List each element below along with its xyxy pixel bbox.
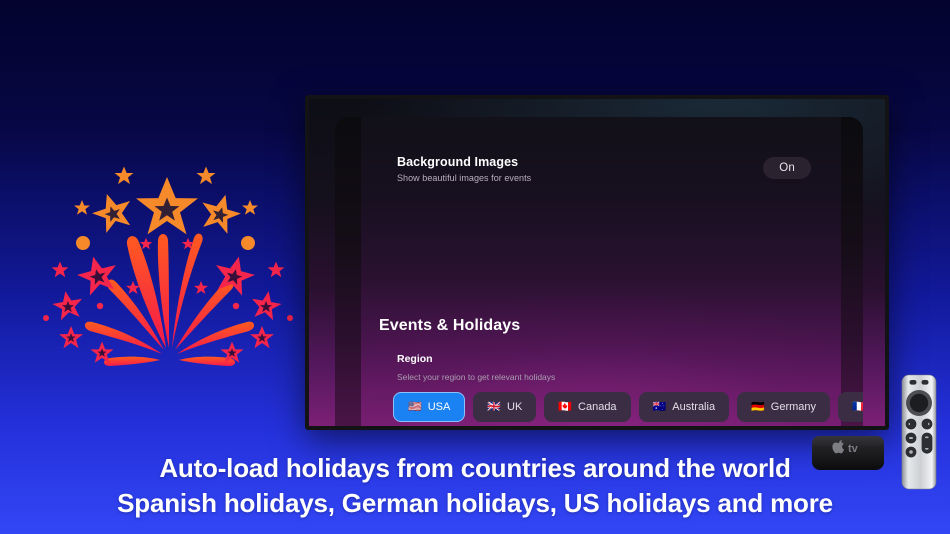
region-chip-label: Australia [672,401,715,413]
region-chip-label: Canada [578,401,617,413]
tv-display: Background Images Show beautiful images … [305,95,889,430]
caption-block: Auto-load holidays from countries around… [0,451,950,520]
background-images-text: Background Images Show beautiful images … [397,155,531,183]
region-chip-france[interactable]: 🇫🇷 France [838,392,863,422]
caption-line-2: Spanish holidays, German holidays, US ho… [0,486,950,520]
background-images-title: Background Images [397,155,531,169]
section-title-events-holidays: Events & Holidays [379,317,520,335]
region-chip-label: USA [428,401,451,413]
region-label: Region [397,353,433,365]
caption-line-1: Auto-load holidays from countries around… [0,451,950,485]
background-images-subtitle: Show beautiful images for events [397,173,531,183]
region-chip-canada[interactable]: 🇨🇦 Canada [544,392,630,422]
panel-left-gutter [335,117,361,426]
app-settings-panel: Background Images Show beautiful images … [335,117,863,426]
region-chip-list[interactable]: 🇺🇸 USA 🇬🇧 UK 🇨🇦 Canada 🇦🇺 Australia 🇩🇪 [393,391,863,423]
region-chip-germany[interactable]: 🇩🇪 Germany [737,392,830,422]
region-chip-australia[interactable]: 🇦🇺 Australia [639,392,730,422]
flag-icon-uk: 🇬🇧 [487,402,501,413]
flag-icon-australia: 🇦🇺 [653,402,667,413]
flag-icon-usa: 🇺🇸 [408,402,422,413]
region-chip-uk[interactable]: 🇬🇧 UK [473,392,536,422]
fireworks-artwork [38,148,300,380]
tv-screen: Background Images Show beautiful images … [309,99,885,426]
background-images-toggle[interactable]: On [763,157,811,179]
flag-icon-france: 🇫🇷 [852,402,863,413]
background-images-row[interactable]: Background Images Show beautiful images … [397,155,811,215]
flag-icon-canada: 🇨🇦 [558,402,572,413]
region-description: Select your region to get relevant holid… [397,372,555,382]
region-chip-label: UK [507,401,522,413]
flag-icon-germany: 🇩🇪 [751,402,765,413]
region-chip-usa[interactable]: 🇺🇸 USA [393,392,465,422]
region-chip-label: Germany [771,401,816,413]
panel-right-gutter [841,117,863,426]
